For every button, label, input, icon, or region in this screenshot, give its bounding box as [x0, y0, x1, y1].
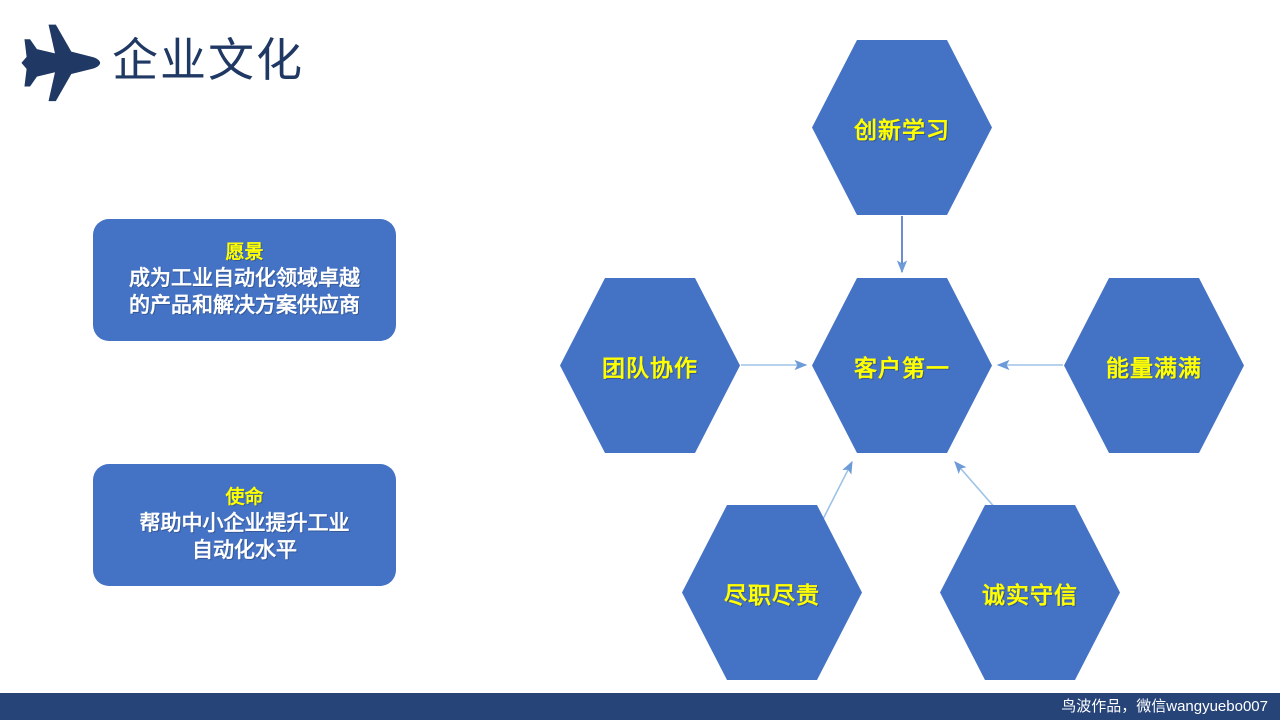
hexagon-diagram: 创新学习 团队协作 客户第一 能量满满 尽职尽责 诚实守信	[540, 20, 1280, 680]
hexagon-innovation-label: 创新学习	[854, 111, 950, 145]
hexagon-energy-label: 能量满满	[1106, 349, 1202, 383]
footer-bar: 鸟波作品，微信wangyuebo007	[0, 693, 1280, 720]
airplane-icon	[18, 22, 104, 108]
info-card-vision-title: 愿景	[225, 240, 263, 265]
hexagon-responsibility[interactable]: 尽职尽责	[682, 505, 862, 680]
slide-canvas: 企业文化 愿景 成为工业自动化领域卓越 的产品和解决方案供应商 使命 帮助中小企…	[0, 0, 1280, 720]
hexagon-teamwork[interactable]: 团队协作	[560, 278, 740, 453]
info-card-vision-body: 成为工业自动化领域卓越 的产品和解决方案供应商	[129, 265, 360, 319]
arrow-bottomleft-to-center	[820, 462, 852, 525]
hexagon-customer-first-label: 客户第一	[854, 349, 950, 383]
hexagon-integrity[interactable]: 诚实守信	[940, 505, 1120, 680]
info-card-mission-body: 帮助中小企业提升工业 自动化水平	[140, 510, 350, 564]
slide-header: 企业文化	[0, 0, 520, 120]
footer-credit-text: 鸟波作品，微信wangyuebo007	[1061, 693, 1268, 720]
hexagon-teamwork-label: 团队协作	[602, 349, 698, 383]
info-card-mission: 使命 帮助中小企业提升工业 自动化水平	[93, 464, 396, 586]
info-card-vision: 愿景 成为工业自动化领域卓越 的产品和解决方案供应商	[93, 219, 396, 341]
info-card-mission-title: 使命	[225, 485, 263, 510]
hexagon-energy[interactable]: 能量满满	[1064, 278, 1244, 453]
hexagon-responsibility-label: 尽职尽责	[724, 576, 820, 610]
hexagon-integrity-label: 诚实守信	[982, 576, 1078, 610]
hexagon-customer-first[interactable]: 客户第一	[812, 278, 992, 453]
page-title: 企业文化	[112, 30, 304, 90]
hexagon-innovation[interactable]: 创新学习	[812, 40, 992, 215]
